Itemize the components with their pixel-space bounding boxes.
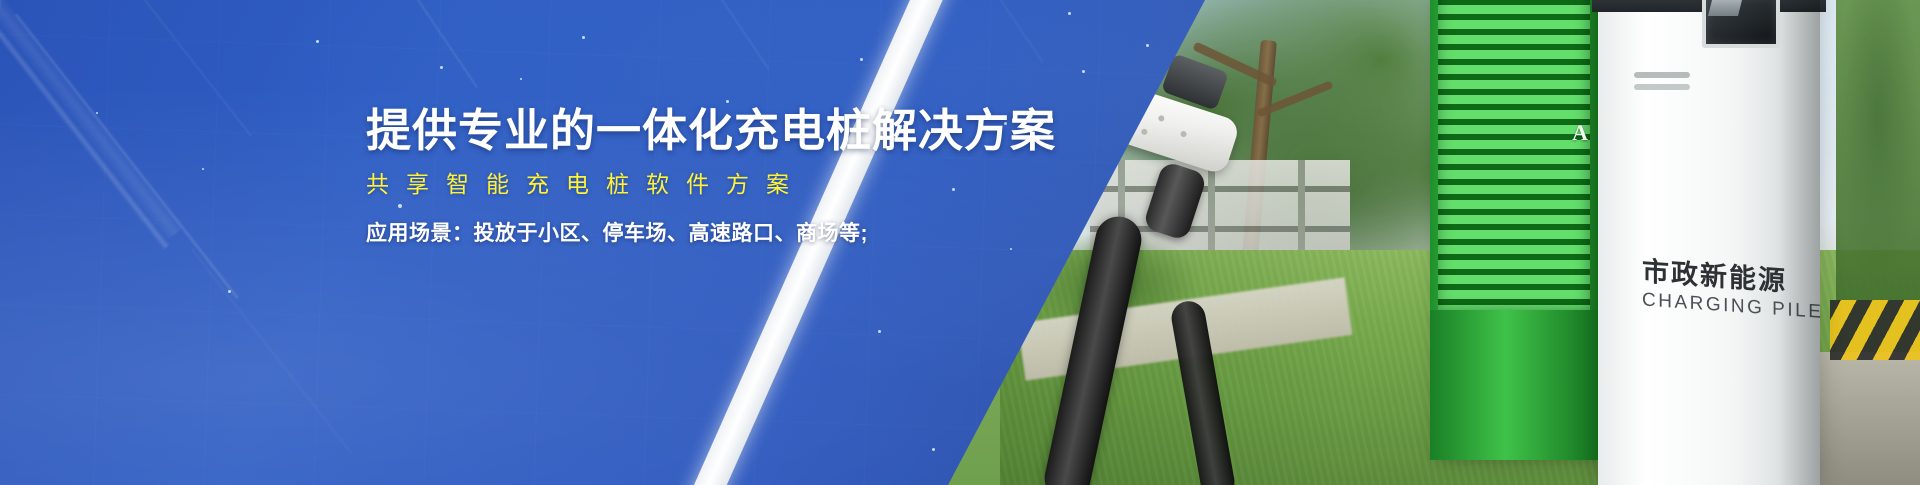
banner-copy: 提供专业的一体化充电桩解决方案 共享智能充电桩软件方案 应用场景：投放于小区、停… <box>366 104 1086 247</box>
star-speck <box>1068 12 1071 15</box>
screen-glare <box>1708 0 1742 16</box>
hero-banner: A 市政新能源 CHARGING PILE <box>0 0 1920 485</box>
louvre-vents <box>1438 0 1590 310</box>
card-slot <box>1634 72 1690 78</box>
star-speck <box>520 78 522 80</box>
star-speck <box>1146 44 1149 47</box>
banner-scenes-line: 应用场景：投放于小区、停车场、高速路口、商场等; <box>366 221 1086 247</box>
charging-pile-white: 市政新能源 CHARGING PILE <box>1598 0 1820 485</box>
pile-base <box>1430 310 1598 460</box>
banner-subheadline: 共享智能充电桩软件方案 <box>366 171 1086 199</box>
star-speck <box>316 40 319 43</box>
star-speck <box>440 66 443 69</box>
star-speck <box>582 36 585 39</box>
hazard-stripe-kerb <box>1830 300 1920 360</box>
banner-headline: 提供专业的一体化充电桩解决方案 <box>366 104 1086 157</box>
star-speck <box>228 290 231 293</box>
star-speck <box>1082 70 1085 73</box>
star-speck <box>1010 248 1012 250</box>
pile-label-a: A <box>1572 120 1588 146</box>
star-speck <box>202 168 204 170</box>
star-speck <box>878 330 881 333</box>
charging-pile-green: A <box>1430 0 1598 460</box>
star-speck <box>860 58 863 61</box>
star-speck <box>932 448 935 451</box>
star-speck <box>726 100 729 103</box>
star-speck <box>96 112 98 114</box>
right-tree <box>1836 0 1920 300</box>
pile-shading <box>1778 0 1820 485</box>
kerb-base <box>1812 352 1920 485</box>
